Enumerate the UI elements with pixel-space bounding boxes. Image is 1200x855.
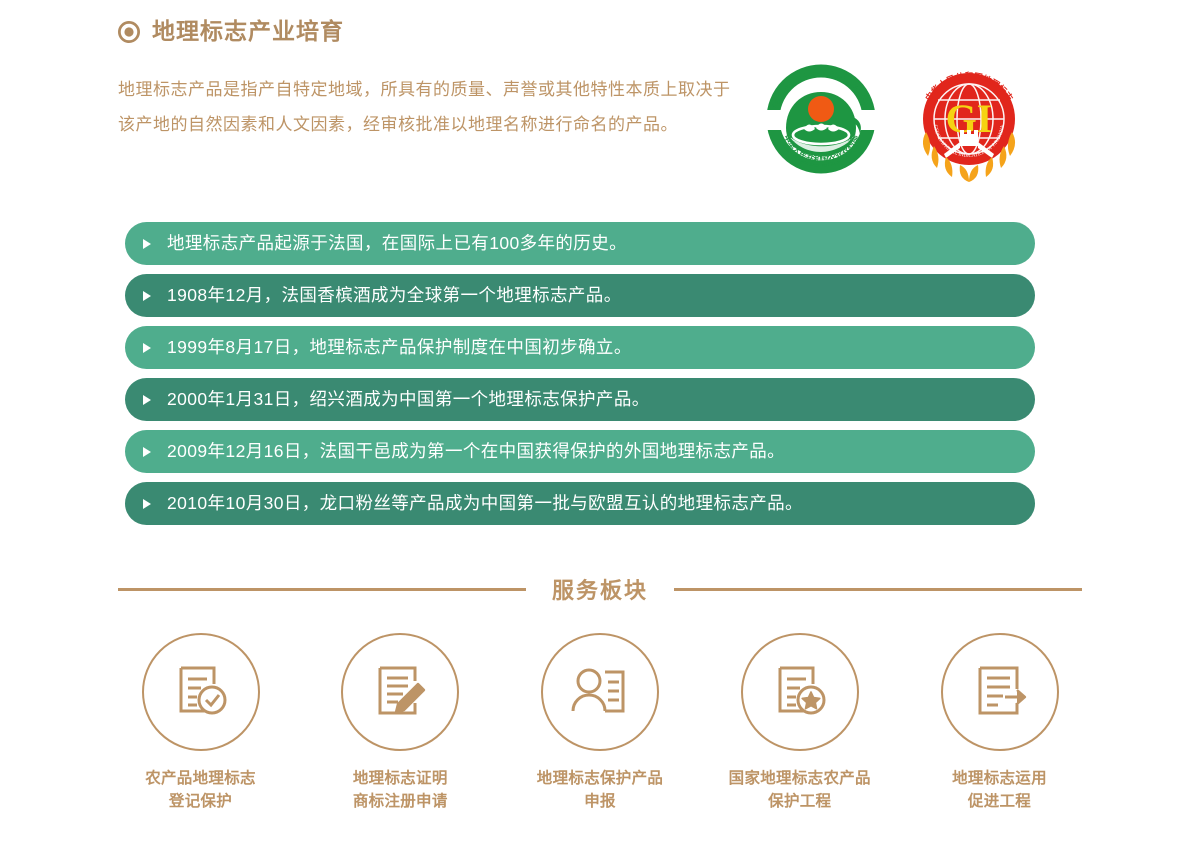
page-title: 地理标志产业培育: [152, 20, 344, 43]
service-item-gi-protected-product-declaration[interactable]: 地理标志保护产品 申报: [518, 633, 683, 813]
service-icon-circle[interactable]: [741, 633, 859, 751]
header-section: 地理标志产业培育 地理标志产品是指产自特定地域，所具有的质量、声誉或其他特性本质…: [0, 0, 1200, 200]
divider-line-right: [674, 588, 1082, 591]
divider-line-left: [118, 588, 526, 591]
service-label-line2: 商标注册申请: [353, 790, 448, 813]
service-item-label: 农产品地理标志 登记保护: [145, 767, 256, 813]
geographical-indication-of-china-logo: GI: [904, 56, 1034, 182]
service-item-agricultural-gi-registration[interactable]: 农产品地理标志 登记保护: [118, 633, 283, 813]
timeline-list: 地理标志产品起源于法国，在国际上已有100多年的历史。 1908年12月，法国香…: [125, 222, 1035, 534]
service-label-line2: 保护工程: [729, 790, 871, 813]
service-icon-circle[interactable]: [941, 633, 1059, 751]
triangle-right-icon: [143, 447, 151, 457]
service-label-line1: 农产品地理标志: [145, 767, 256, 790]
service-label-line1: 地理标志保护产品: [537, 767, 663, 790]
page-description: 地理标志产品是指产自特定地域，所具有的质量、声誉或其他特性本质上取决于该产地的自…: [118, 72, 738, 142]
services-section-heading: 服务板块: [118, 573, 1082, 605]
document-star-icon: [767, 659, 833, 725]
agricultural-product-geographical-indications-logo: Agri-product Geographical Indications Mi…: [756, 56, 886, 182]
timeline-item-text: 2010年10月30日，龙口粉丝等产品成为中国第一批与欧盟互认的地理标志产品。: [167, 495, 803, 513]
service-item-label: 地理标志保护产品 申报: [537, 767, 663, 813]
timeline-item[interactable]: 2010年10月30日，龙口粉丝等产品成为中国第一批与欧盟互认的地理标志产品。: [125, 482, 1035, 525]
service-icon-circle[interactable]: [541, 633, 659, 751]
services-list: 农产品地理标志 登记保护 地理标志证明: [118, 633, 1082, 813]
service-label-line2: 申报: [537, 790, 663, 813]
service-label-line1: 国家地理标志农产品: [729, 767, 871, 790]
timeline-item[interactable]: 2009年12月16日，法国干邑成为第一个在中国获得保护的外国地理标志产品。: [125, 430, 1035, 473]
service-item-label: 地理标志运用 促进工程: [952, 767, 1047, 813]
timeline-item-text: 1999年8月17日，地理标志产品保护制度在中国初步确立。: [167, 339, 632, 357]
target-circle-icon: [118, 21, 140, 43]
document-check-icon: [168, 659, 234, 725]
timeline-item[interactable]: 2000年1月31日，绍兴酒成为中国第一个地理标志保护产品。: [125, 378, 1035, 421]
service-label-line2: 登记保护: [145, 790, 256, 813]
service-icon-circle[interactable]: [142, 633, 260, 751]
timeline-item-text: 2009年12月16日，法国干邑成为第一个在中国获得保护的外国地理标志产品。: [167, 443, 785, 461]
timeline-item[interactable]: 1908年12月，法国香槟酒成为全球第一个地理标志产品。: [125, 274, 1035, 317]
service-item-national-gi-protection-project[interactable]: 国家地理标志农产品 保护工程: [717, 633, 882, 813]
logo-group: Agri-product Geographical Indications Mi…: [756, 56, 1034, 182]
service-item-label: 国家地理标志农产品 保护工程: [729, 767, 871, 813]
timeline-item[interactable]: 1999年8月17日，地理标志产品保护制度在中国初步确立。: [125, 326, 1035, 369]
page-title-row: 地理标志产业培育: [118, 20, 344, 43]
triangle-right-icon: [143, 499, 151, 509]
service-item-label: 地理标志证明 商标注册申请: [353, 767, 448, 813]
triangle-right-icon: [143, 239, 151, 249]
service-icon-circle[interactable]: [341, 633, 459, 751]
services-heading-text: 服务板块: [552, 573, 648, 605]
timeline-item-text: 1908年12月，法国香槟酒成为全球第一个地理标志产品。: [167, 287, 622, 305]
person-card-icon: [567, 659, 633, 725]
document-arrow-icon: [967, 659, 1033, 725]
document-pencil-icon: [367, 659, 433, 725]
service-item-gi-trademark-application[interactable]: 地理标志证明 商标注册申请: [318, 633, 483, 813]
triangle-right-icon: [143, 395, 151, 405]
page-root: 地理标志产业培育 地理标志产品是指产自特定地域，所具有的质量、声誉或其他特性本质…: [0, 0, 1200, 855]
triangle-right-icon: [143, 291, 151, 301]
timeline-item[interactable]: 地理标志产品起源于法国，在国际上已有100多年的历史。: [125, 222, 1035, 265]
timeline-item-text: 2000年1月31日，绍兴酒成为中国第一个地理标志保护产品。: [167, 391, 650, 409]
service-label-line1: 地理标志证明: [353, 767, 448, 790]
service-label-line2: 促进工程: [952, 790, 1047, 813]
service-label-line1: 地理标志运用: [952, 767, 1047, 790]
triangle-right-icon: [143, 343, 151, 353]
service-item-gi-utilization-promotion-project[interactable]: 地理标志运用 促进工程: [917, 633, 1082, 813]
timeline-item-text: 地理标志产品起源于法国，在国际上已有100多年的历史。: [167, 235, 627, 253]
